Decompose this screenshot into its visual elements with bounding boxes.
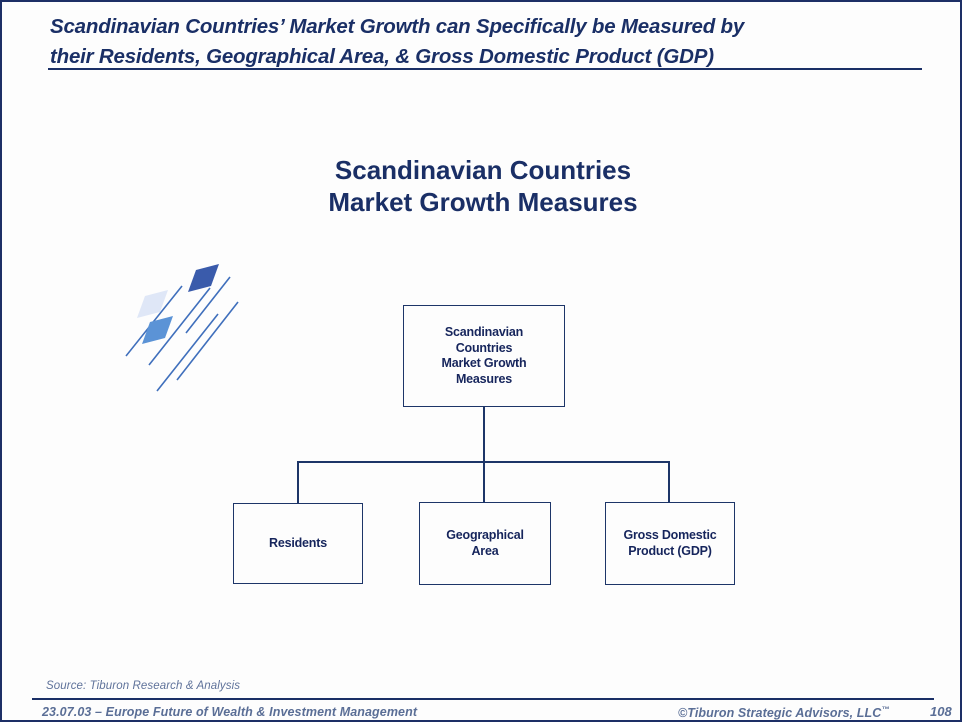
footer-copyright-text: ©Tiburon Strategic Advisors, LLC	[678, 706, 881, 720]
page-title: Scandinavian Countries’ Market Growth ca…	[50, 12, 925, 72]
tree-node-residents-label: Residents	[269, 536, 327, 552]
header-divider	[48, 68, 922, 70]
tree-node-residents[interactable]: Residents	[233, 503, 363, 584]
slide-canvas: Scandinavian Countries’ Market Growth ca…	[0, 0, 962, 722]
connector-to-residents	[297, 461, 299, 503]
connector-to-gdp	[668, 461, 670, 502]
tiburon-diagonal-logo-mark-icon	[120, 240, 245, 395]
chart-title: Scandinavian Countries Market Growth Mea…	[2, 154, 962, 218]
logo-parallelogram-light	[137, 290, 168, 318]
tree-node-gross-domestic-product[interactable]: Gross Domestic Product (GDP)	[605, 502, 735, 585]
chart-title-line-1: Scandinavian Countries	[335, 155, 631, 185]
page-title-line-2: their Residents, Geographical Area, & Gr…	[50, 45, 714, 68]
tree-node-geographical-area[interactable]: Geographical Area	[419, 502, 551, 585]
trademark-icon: ™	[881, 705, 889, 714]
source-note: Source: Tiburon Research & Analysis	[46, 680, 240, 692]
connector-horizontal-bus	[297, 461, 669, 463]
page-title-line-1: Scandinavian Countries’ Market Growth ca…	[50, 15, 744, 38]
connector-root-stem	[483, 407, 485, 503]
tree-node-root-label: Scandinavian Countries Market Growth Mea…	[442, 325, 527, 387]
tree-node-root[interactable]: Scandinavian Countries Market Growth Mea…	[403, 305, 565, 407]
footer-presentation-label: 23.07.03 – Europe Future of Wealth & Inv…	[42, 705, 417, 719]
footer-copyright: ©Tiburon Strategic Advisors, LLC™	[678, 705, 890, 720]
logo-parallelogram-dark	[188, 264, 219, 292]
tree-node-geographical-area-label: Geographical Area	[446, 528, 523, 559]
page-number: 108	[930, 704, 952, 719]
footer-divider	[32, 698, 934, 700]
chart-title-line-2: Market Growth Measures	[2, 186, 962, 218]
tree-node-gross-domestic-product-label: Gross Domestic Product (GDP)	[623, 528, 716, 559]
